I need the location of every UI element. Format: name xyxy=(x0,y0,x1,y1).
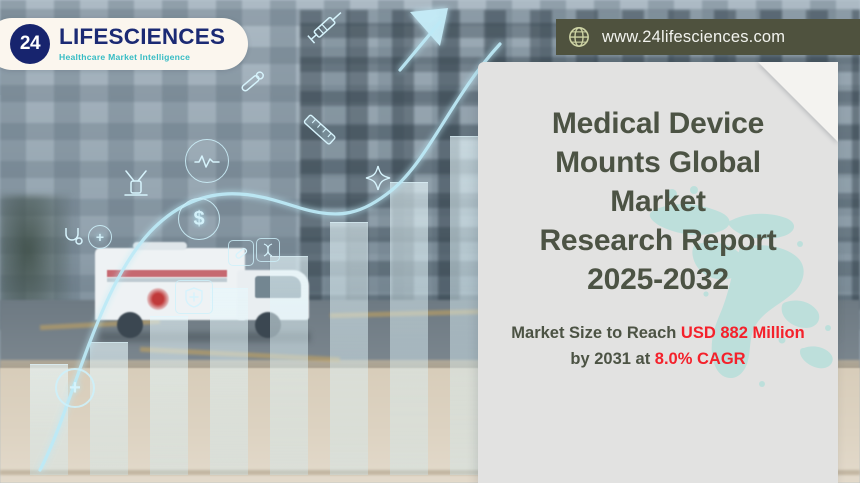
subtitle-part-2: by 2031 at xyxy=(570,350,654,368)
medical-cross-circle-icon: + xyxy=(55,368,95,408)
logo-24-badge: 24 xyxy=(10,24,50,64)
pill-icon xyxy=(228,240,254,266)
title-line-1: Medical Device xyxy=(500,104,816,143)
subtitle-highlight-usd: USD 882 Million xyxy=(681,324,805,342)
title-line-5: 2025-2032 xyxy=(500,260,816,299)
website-url-bar[interactable]: www.24lifesciences.com xyxy=(556,19,860,55)
stethoscope-icon xyxy=(62,225,84,252)
title-line-2: Mounts Global xyxy=(500,143,816,182)
title-line-4: Research Report xyxy=(500,221,816,260)
logo-company-name: LIFESCIENCES xyxy=(59,26,225,49)
sparkle-icon xyxy=(365,165,391,196)
title-line-3: Market xyxy=(500,182,816,221)
microscope-icon xyxy=(120,165,152,204)
heartbeat-pulse-icon xyxy=(185,139,229,183)
pulse-line-icon xyxy=(194,154,220,168)
dollar-coin-icon: $ xyxy=(178,198,220,240)
banner-canvas: $ xyxy=(0,0,860,483)
logo-tagline: Healthcare Market Intelligence xyxy=(59,53,225,62)
shield-cross-icon xyxy=(175,280,213,314)
dna-icon xyxy=(256,238,280,262)
report-title: Medical Device Mounts Global Market Rese… xyxy=(500,104,816,299)
subtitle-highlight-cagr: 8.0% CAGR xyxy=(655,350,746,368)
website-url-text: www.24lifesciences.com xyxy=(602,28,785,47)
globe-icon xyxy=(568,26,590,48)
report-title-card: Medical Device Mounts Global Market Rese… xyxy=(478,62,838,483)
logo-text-block: LIFESCIENCES Healthcare Market Intellige… xyxy=(59,26,225,61)
card-content: Medical Device Mounts Global Market Rese… xyxy=(478,62,838,372)
market-size-statement: Market Size to Reach USD 882 Million by … xyxy=(500,321,816,372)
first-aid-cross-icon: + xyxy=(88,225,112,249)
subtitle-part-1: Market Size to Reach xyxy=(511,324,681,342)
brand-logo[interactable]: 24 LIFESCIENCES Healthcare Market Intell… xyxy=(0,18,248,70)
